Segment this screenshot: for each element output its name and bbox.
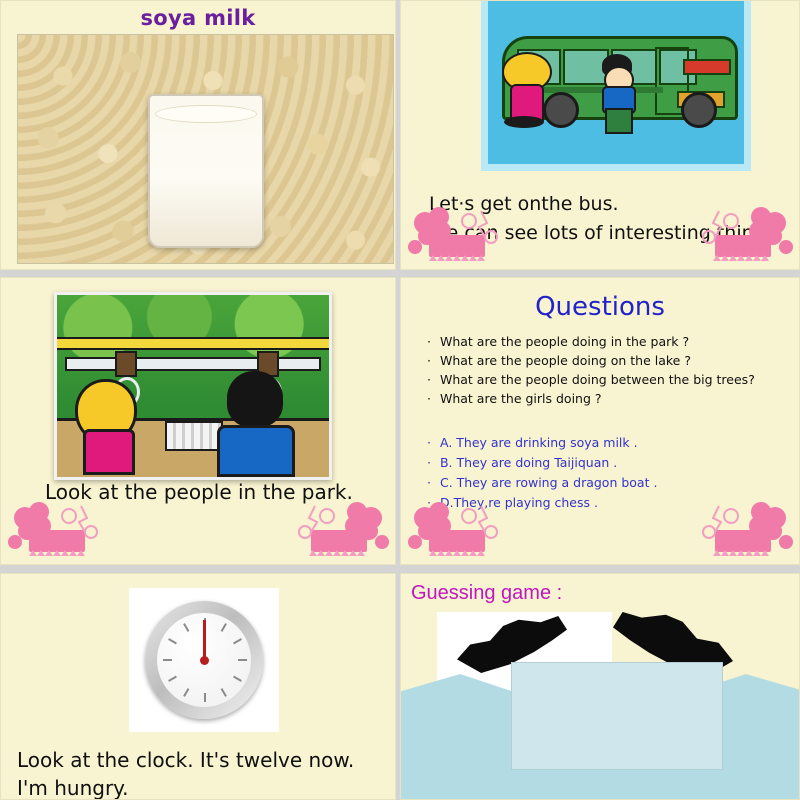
question-item: What are the girls doing ?: [427, 389, 755, 408]
milk-glass-icon: [148, 94, 264, 248]
clock-caption-line-2: I'm hungry.: [17, 776, 129, 800]
flower-decoration-left-icon: [403, 498, 523, 564]
park-girl-icon: [75, 379, 137, 475]
row-divider-2: [0, 565, 800, 573]
girl-character-icon: [502, 52, 548, 124]
boy-character-icon: [596, 54, 640, 128]
slide-look-at-the-park[interactable]: Look at the people in the park.: [0, 277, 396, 565]
clock-face-icon: [145, 601, 263, 719]
guessing-game-title: Guessing game :: [411, 582, 562, 605]
slide-look-at-the-clock[interactable]: Look at the clock. It's twelve now. I'm …: [0, 573, 396, 800]
question-item: What are the people doing on the lake ?: [427, 351, 755, 370]
slide-guessing-game[interactable]: Guessing game :: [400, 573, 800, 800]
questions-list: What are the people doing in the park ? …: [427, 332, 755, 408]
clock-picture: [129, 588, 279, 732]
slide-soya-milk[interactable]: soya milk: [0, 0, 396, 270]
clock-caption-line-1: Look at the clock. It's twelve now.: [17, 748, 354, 772]
flower-decoration-right-icon: [687, 498, 797, 564]
questions-title: Questions: [401, 292, 799, 322]
park-picture: [54, 292, 332, 480]
bus-picture: [481, 0, 751, 171]
answer-item: C. They are rowing a dragon boat .: [427, 473, 657, 493]
slide-deck: soya milk Let·s get onthe bus. We can: [0, 0, 800, 800]
flower-decoration-left-icon: [3, 498, 123, 564]
answer-item: B. They are doing Taijiquan .: [427, 453, 657, 473]
flower-decoration-right-icon: [283, 498, 393, 564]
question-item: What are the people doing in the park ?: [427, 332, 755, 351]
slide-title-soya-milk: soya milk: [1, 6, 395, 30]
distant-people-icon: [165, 421, 223, 451]
blue-banner-shape: [511, 662, 723, 770]
row-divider-1: [0, 270, 800, 277]
clock-hand: [203, 620, 206, 660]
soya-beans-image: [17, 34, 394, 264]
answer-item: A. They are drinking soya milk .: [427, 433, 657, 453]
slide-get-on-the-bus[interactable]: Let·s get onthe bus. We can see lots of …: [400, 0, 800, 270]
slide-questions[interactable]: Questions What are the people doing in t…: [400, 277, 800, 565]
park-boy-icon: [217, 371, 293, 477]
flower-decoration-left-icon: [403, 203, 523, 269]
flower-decoration-right-icon: [687, 203, 797, 269]
question-item: What are the people doing between the bi…: [427, 370, 755, 389]
